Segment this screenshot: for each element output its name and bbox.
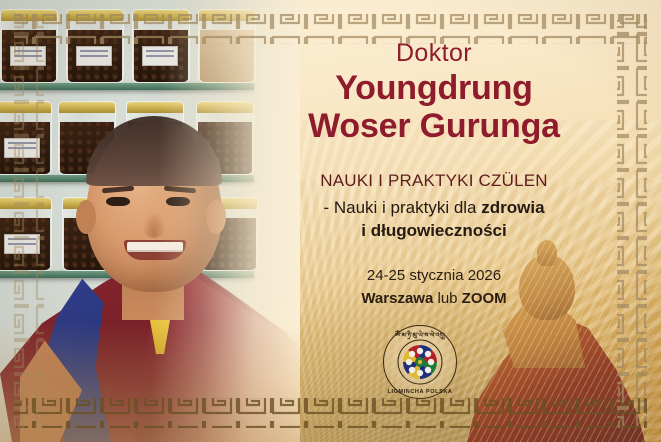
speaker-photo xyxy=(0,0,300,442)
event-date: 24-25 stycznia 2026 xyxy=(262,265,606,288)
event-tagline: - Nauki i praktyki dla zdrowia i długowi… xyxy=(262,197,606,243)
speaker-name-line2: Woser Gurunga xyxy=(262,107,606,145)
photo-fade-bottom xyxy=(0,322,300,442)
event-details: 24-25 stycznia 2026 Warszawa lub ZOOM xyxy=(262,265,606,310)
tagline-bold-zdrowia: zdrowia xyxy=(481,198,544,217)
logo-tibetan-text: ༀ་མ་ཏྲི་མུ་ཡེ་ས་ལེ་འདུ། xyxy=(383,329,457,346)
tagline-bold-dlugowiecznosci: i długowieczności xyxy=(361,221,506,240)
title-prefix: Doktor xyxy=(262,40,606,67)
tagline-line-2: i długowieczności xyxy=(262,220,606,243)
location-city: Warszawa xyxy=(361,290,433,307)
poster: Doktor Youngdrung Woser Gurunga NAUKI I … xyxy=(0,0,661,442)
logo-organization-name: LIGMINCHA POLSKA xyxy=(383,389,457,395)
speaker-name: Youngdrung Woser Gurunga xyxy=(262,69,606,145)
speaker-name-line1: Youngdrung xyxy=(262,69,606,107)
ligmincha-logo: ༀ་མ་ཏྲི་མུ་ཡེ་ས་ལེ་འདུ། LIGMINCHA POLSKA xyxy=(383,325,457,399)
location-conjunction: lub xyxy=(433,290,461,307)
event-subject: NAUKI I PRAKTYKI CZÜLEN xyxy=(262,171,606,191)
poster-text-block: Doktor Youngdrung Woser Gurunga NAUKI I … xyxy=(262,40,606,310)
tagline-line-1: - Nauki i praktyki dla zdrowia xyxy=(262,197,606,220)
tagline-plain: - Nauki i praktyki dla xyxy=(323,198,481,217)
location-online: ZOOM xyxy=(462,290,507,307)
event-location: Warszawa lub ZOOM xyxy=(262,288,606,311)
